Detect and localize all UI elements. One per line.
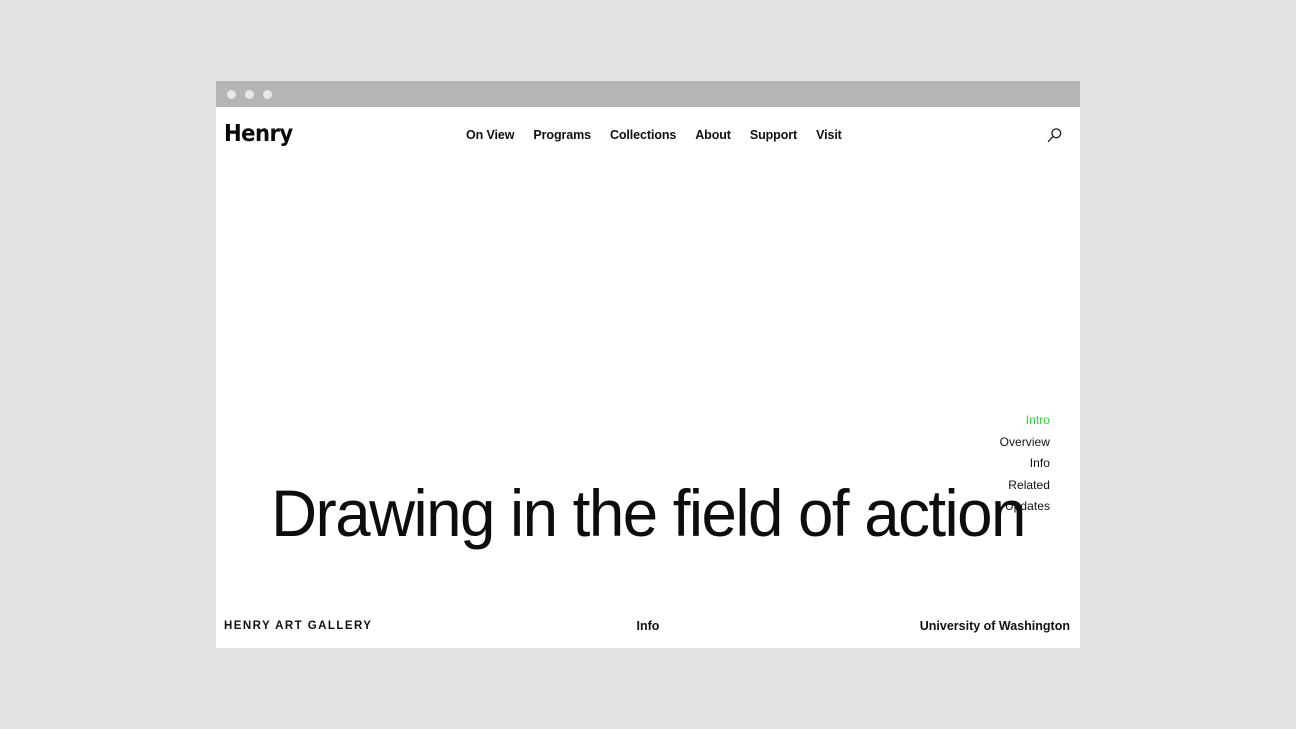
window-close-dot[interactable] bbox=[227, 90, 236, 99]
section-nav-item-related[interactable]: Related bbox=[1008, 475, 1050, 497]
search-icon bbox=[1046, 127, 1063, 144]
section-nav-item-intro[interactable]: Intro bbox=[1026, 410, 1050, 432]
section-nav-item-overview[interactable]: Overview bbox=[1000, 432, 1050, 454]
nav-item-on-view[interactable]: On View bbox=[466, 128, 514, 142]
nav-item-about[interactable]: About bbox=[695, 128, 731, 142]
window-zoom-dot[interactable] bbox=[263, 90, 272, 99]
window-controls bbox=[227, 90, 272, 99]
site-logo[interactable]: Henry bbox=[224, 123, 299, 146]
site-footer: HENRY ART GALLERY Info University of Was… bbox=[216, 604, 1080, 648]
site-header: Henry On View Programs Collections About… bbox=[216, 107, 1080, 163]
footer-gallery-name: HENRY ART GALLERY bbox=[224, 620, 372, 632]
page-content: Henry On View Programs Collections About… bbox=[216, 107, 1080, 648]
footer-info-link[interactable]: Info bbox=[637, 619, 660, 633]
window-minimize-dot[interactable] bbox=[245, 90, 254, 99]
section-navigation: Intro Overview Info Related Updates bbox=[1000, 410, 1050, 518]
search-button[interactable] bbox=[1044, 125, 1064, 145]
window-titlebar[interactable] bbox=[216, 81, 1080, 107]
section-nav-item-updates[interactable]: Updates bbox=[1005, 496, 1050, 518]
nav-item-programs[interactable]: Programs bbox=[533, 128, 591, 142]
footer-university-link[interactable]: University of Washington bbox=[920, 619, 1070, 633]
browser-window: Henry On View Programs Collections About… bbox=[216, 81, 1080, 648]
section-nav-item-info[interactable]: Info bbox=[1030, 453, 1050, 475]
site-logo-text: Henry bbox=[224, 123, 293, 146]
nav-item-collections[interactable]: Collections bbox=[610, 128, 676, 142]
nav-item-visit[interactable]: Visit bbox=[816, 128, 842, 142]
page-title: Drawing in the field of action bbox=[231, 480, 1065, 546]
hero-section: Drawing in the field of action Intro Ove… bbox=[216, 163, 1080, 604]
main-navigation: On View Programs Collections About Suppo… bbox=[466, 128, 842, 142]
nav-item-support[interactable]: Support bbox=[750, 128, 797, 142]
